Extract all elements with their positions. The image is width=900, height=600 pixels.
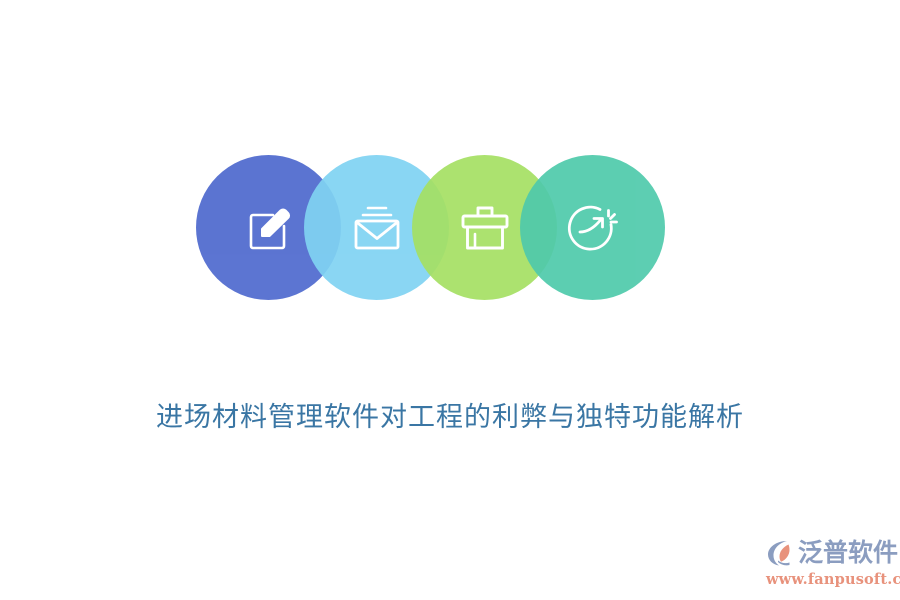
fanpu-logo-mark-icon [766, 538, 796, 568]
brand-logo[interactable]: 泛普软件 www.fanpusoft.com [766, 536, 896, 592]
logo-url: www.fanpusoft.com [766, 571, 896, 588]
circle-growth[interactable] [520, 155, 665, 300]
logo-row: 泛普软件 [766, 536, 896, 570]
edit-square-icon [240, 199, 298, 257]
growth-arrow-circle-icon [564, 199, 622, 257]
envelope-send-icon [347, 201, 407, 255]
banner-canvas: 进场材料管理软件对工程的利弊与独特功能解析 泛普软件 www.fanpusoft… [0, 0, 900, 600]
store-shop-icon [456, 200, 514, 256]
logo-wordmark: 泛普软件 [798, 538, 898, 568]
page-title: 进场材料管理软件对工程的利弊与独特功能解析 [0, 398, 900, 438]
icon-circle-cluster [196, 155, 656, 300]
